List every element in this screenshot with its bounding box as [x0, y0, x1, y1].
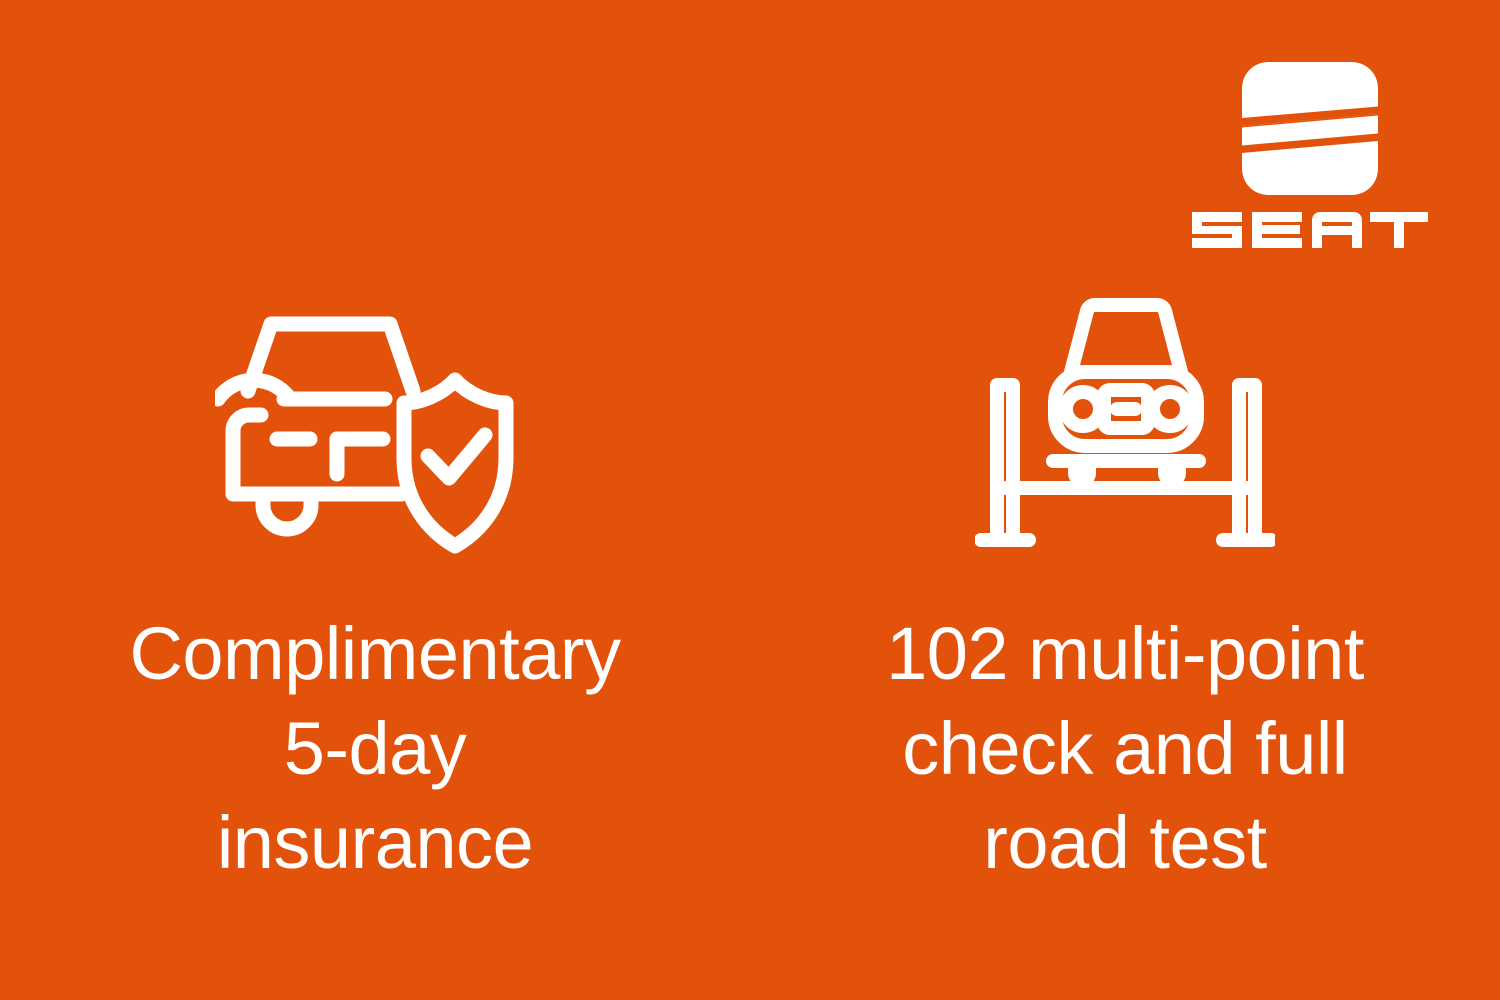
feature-item-inspection: 102 multi-point check and full road test: [750, 290, 1500, 891]
feature-caption-insurance: Complimentary 5-day insurance: [45, 607, 705, 891]
seat-brand-logo: [1190, 62, 1430, 262]
feature-item-insurance: Complimentary 5-day insurance: [0, 290, 750, 891]
feature-caption-inspection: 102 multi-point check and full road test: [805, 607, 1445, 891]
promo-banner: Complimentary 5-day insurance: [0, 0, 1500, 1000]
seat-s-logo-icon: [1242, 62, 1378, 195]
car-on-lift-inspection-icon: [975, 293, 1275, 563]
feature-list: Complimentary 5-day insurance: [0, 290, 1500, 891]
feature-icon-wrapper: [215, 290, 535, 565]
car-shield-insurance-icon: [215, 298, 535, 558]
feature-icon-wrapper: [975, 290, 1275, 565]
seat-wordmark: [1190, 204, 1430, 256]
